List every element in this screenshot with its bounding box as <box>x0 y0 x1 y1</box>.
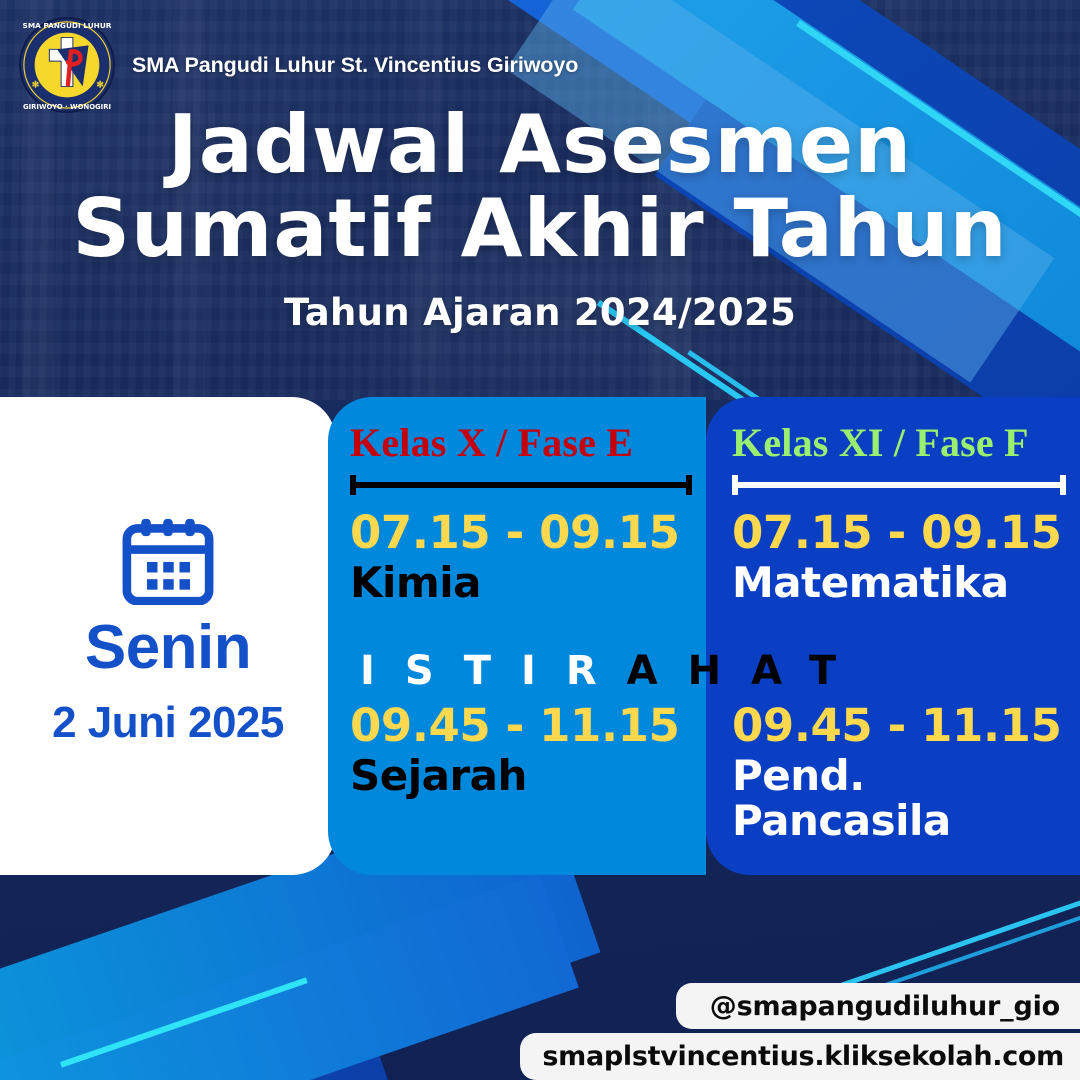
poster-canvas: SMA PANGUDI LUHUR GIRIWOYO · WONOGIRI ✻ … <box>0 0 1080 1080</box>
title-subtitle: Tahun Ajaran 2024/2025 <box>0 291 1080 334</box>
school-seal-icon: SMA PANGUDI LUHUR GIRIWOYO · WONOGIRI ✻ … <box>18 16 116 114</box>
column-heading-kelas-xi: Kelas XI / Fase F <box>732 423 1080 463</box>
divider-rule-kelas-xi <box>732 473 1080 495</box>
slot-subject: Matematika <box>732 560 1080 605</box>
title-block: Jadwal Asesmen Sumatif Akhir Tahun Tahun… <box>0 106 1080 334</box>
slot-kelas-xi-1: 07.15 - 09.15 Matematika <box>732 509 1080 606</box>
website-text: smaplstvincentius.kliksekolah.com <box>542 1041 1064 1072</box>
slot-time: 07.15 - 09.15 <box>732 509 1080 556</box>
instagram-handle-text: @smapangudiluhur_gio <box>710 991 1060 1022</box>
svg-text:✻: ✻ <box>32 80 39 90</box>
website-tag[interactable]: smaplstvincentius.kliksekolah.com <box>520 1033 1080 1080</box>
slot-subject: Kimia <box>350 560 706 605</box>
slot-time: 07.15 - 09.15 <box>350 509 706 556</box>
svg-text:✻: ✻ <box>96 80 103 90</box>
slot-kelas-xi-2: 09.45 - 11.15 Pend. Pancasila <box>732 702 1080 844</box>
slot-kelas-x-2: 09.45 - 11.15 Sejarah <box>350 702 706 799</box>
column-kelas-xi: Kelas XI / Fase F 07.15 - 09.15 Matemati… <box>706 397 1080 875</box>
svg-text:SMA PANGUDI LUHUR: SMA PANGUDI LUHUR <box>23 21 112 30</box>
slot-kelas-x-1: 07.15 - 09.15 Kimia <box>350 509 706 606</box>
column-heading-kelas-x: Kelas X / Fase E <box>350 423 706 463</box>
slot-subject: Sejarah <box>350 753 706 798</box>
date-card: Senin 2 Juni 2025 <box>0 397 336 875</box>
column-kelas-x: Kelas X / Fase E 07.15 - 09.15 Kimia 09.… <box>328 397 706 875</box>
day-date: 2 Juni 2025 <box>52 701 284 745</box>
divider-rule-kelas-x <box>350 473 706 495</box>
instagram-handle-tag[interactable]: @smapangudiluhur_gio <box>676 983 1080 1029</box>
day-name: Senin <box>85 617 251 679</box>
title-line-2: Sumatif Akhir Tahun <box>0 190 1080 268</box>
schedule-panels: Senin 2 Juni 2025 Kelas X / Fase E 07.15… <box>0 397 1080 875</box>
slot-time: 09.45 - 11.15 <box>732 702 1080 749</box>
school-name: SMA Pangudi Luhur St. Vincentius Giriwoy… <box>132 53 578 78</box>
slot-time: 09.45 - 11.15 <box>350 702 706 749</box>
slot-subject: Pend. Pancasila <box>732 753 1080 844</box>
calendar-icon <box>120 517 216 605</box>
title-line-1: Jadwal Asesmen <box>0 106 1080 184</box>
